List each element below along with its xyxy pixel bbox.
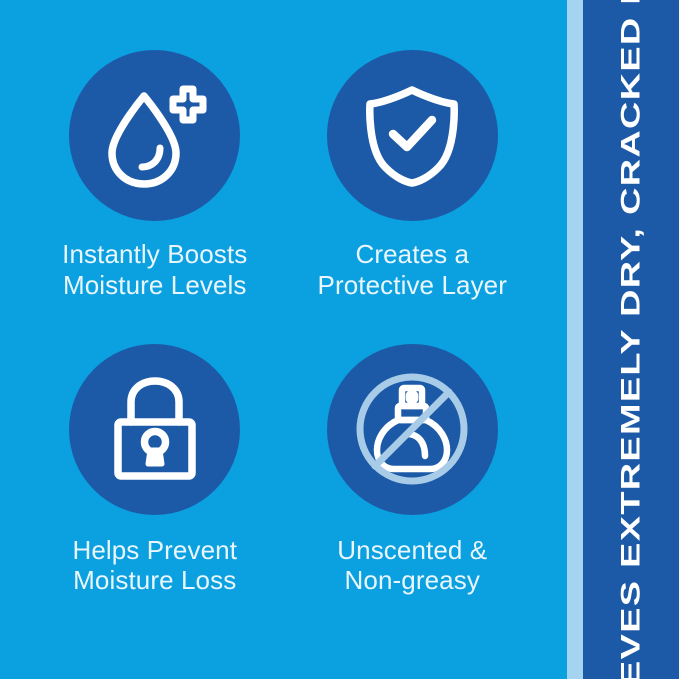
feature-infographic: Instantly Boosts Moisture Levels Creates… [0, 0, 679, 679]
feature-item-unscented-non-greasy: Unscented & Non-greasy [284, 344, 542, 638]
padlock-icon [109, 376, 201, 482]
water-droplet-plus-icon [103, 82, 207, 190]
vertical-banner: RELIEVES EXTREMELY DRY, CRACKED FEET [583, 0, 679, 679]
no-fragrance-bottle-icon [353, 370, 471, 488]
feature-label: Unscented & Non-greasy [337, 535, 487, 596]
feature-item-creates-a-protective-layer: Creates a Protective Layer [284, 50, 542, 344]
feature-label: Creates a Protective Layer [318, 239, 507, 300]
icon-circle [327, 344, 498, 515]
feature-label: Helps Prevent Moisture Loss [72, 535, 237, 596]
icon-circle [327, 50, 498, 221]
feature-item-helps-prevent-moisture-loss: Helps Prevent Moisture Loss [26, 344, 284, 638]
feature-grid: Instantly Boosts Moisture Levels Creates… [0, 0, 567, 679]
divider-strip [567, 0, 583, 679]
feature-item-instantly-boosts-moisture-levels: Instantly Boosts Moisture Levels [26, 50, 284, 344]
icon-circle [69, 344, 240, 515]
feature-label: Instantly Boosts Moisture Levels [62, 239, 247, 300]
icon-circle [69, 50, 240, 221]
banner-text: RELIEVES EXTREMELY DRY, CRACKED FEET [615, 0, 647, 679]
shield-check-icon [362, 84, 462, 188]
